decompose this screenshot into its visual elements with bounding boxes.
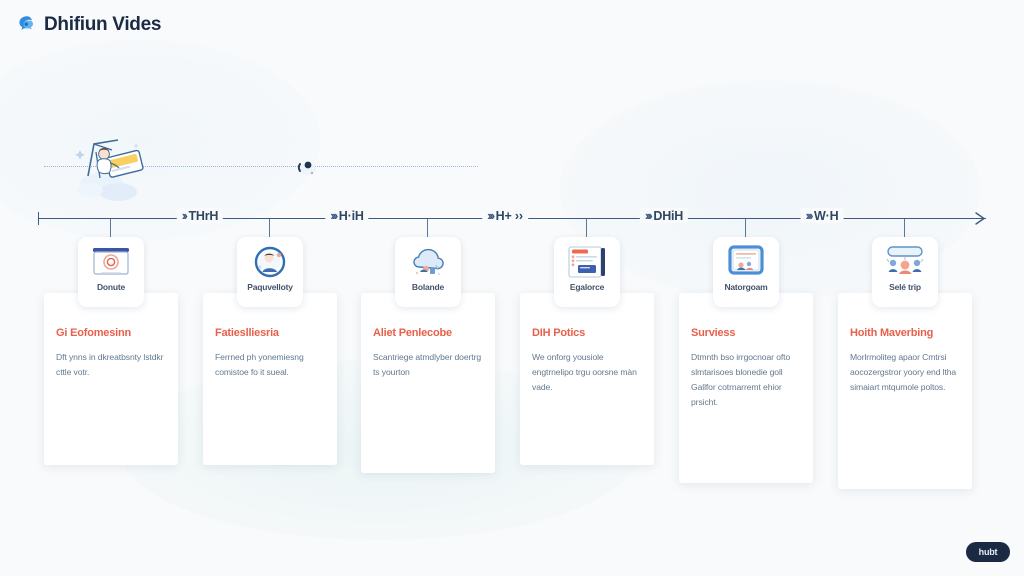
milestone-title: Aliet Penlecobe	[373, 327, 483, 339]
avatar-badge-icon	[248, 243, 292, 281]
milestone-icon-chip[interactable]: Selé trip	[872, 237, 938, 307]
milestone-card[interactable]: FatieslliesriaFerrned ph yonemiesng comi…	[203, 293, 337, 465]
milestone-icon-label: Egalorce	[570, 282, 604, 292]
milestone-description: We onforg yousiole engtrnelipo trgu oors…	[532, 350, 642, 395]
milestone-icon-label: Bolande	[412, 282, 444, 292]
monitor-team-icon	[724, 243, 768, 281]
milestone-card[interactable]: Aliet PenlecobeScantriege atmdlyber doer…	[361, 293, 495, 473]
document-page-icon	[565, 243, 609, 281]
milestone-description: Dft ynns in dkreatbsnty lstdkr cttle vot…	[56, 350, 166, 380]
milestone-description: Morlrmoliteg apaor Cmtrsi aocozergstror …	[850, 350, 960, 395]
cloud-icon	[406, 243, 450, 281]
axis-connector-4	[586, 219, 587, 237]
milestone-columns: Gi EofomesinnDft ynns in dkreatbsnty lst…	[0, 0, 1024, 576]
axis-connector-2	[269, 219, 270, 237]
milestone-description: Dtmnth bso irrgocnoar ofto slmtarisoes b…	[691, 350, 801, 410]
milestone-description: Ferrned ph yonemiesng comistoe fo it sue…	[215, 350, 325, 380]
milestone-description: Scantriege atmdlyber doertrg ts yourton	[373, 350, 483, 380]
footer-brand-badge[interactable]: hubt	[966, 542, 1010, 562]
browser-window-icon	[89, 243, 133, 281]
milestone-title: Hoith Maverbing	[850, 327, 960, 339]
axis-connector-1	[110, 219, 111, 237]
milestone-icon-chip[interactable]: Bolande	[395, 237, 461, 307]
milestone-title: Gi Eofomesinn	[56, 327, 166, 339]
milestone-icon-chip[interactable]: Natorgoam	[713, 237, 779, 307]
milestone-title: DIH Potics	[532, 327, 642, 339]
team-collaboration-icon	[883, 243, 927, 281]
milestone-icon-chip[interactable]: Egalorce	[554, 237, 620, 307]
milestone-icon-chip[interactable]: Paquvelloty	[237, 237, 303, 307]
axis-connector-3	[427, 219, 428, 237]
axis-connector-5	[745, 219, 746, 237]
milestone-card[interactable]: Gi EofomesinnDft ynns in dkreatbsnty lst…	[44, 293, 178, 465]
milestone-icon-chip[interactable]: Donute	[78, 237, 144, 307]
milestone-title: Surviess	[691, 327, 801, 339]
milestone-title: Fatieslliesria	[215, 327, 325, 339]
milestone-card[interactable]: SurviessDtmnth bso irrgocnoar ofto slmta…	[679, 293, 813, 483]
milestone-icon-label: Donute	[97, 282, 125, 292]
milestone-icon-label: Paquvelloty	[247, 282, 293, 292]
milestone-card[interactable]: DIH PoticsWe onforg yousiole engtrnelipo…	[520, 293, 654, 465]
milestone-icon-label: Selé trip	[889, 282, 921, 292]
milestone-icon-label: Natorgoam	[724, 282, 767, 292]
milestone-card[interactable]: Hoith MaverbingMorlrmoliteg apaor Cmtrsi…	[838, 293, 972, 489]
axis-connector-6	[904, 219, 905, 237]
